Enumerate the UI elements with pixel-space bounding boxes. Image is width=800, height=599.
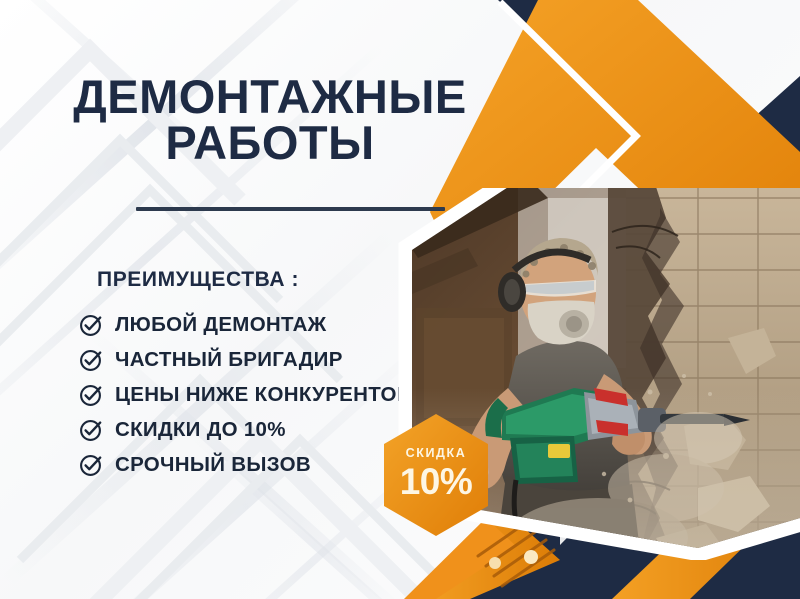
check-circle-icon: [78, 382, 104, 408]
check-circle-icon: [78, 417, 104, 443]
promo-banner: ДЕМОНТАЖНЫЕ РАБОТЫ ПРЕИМУЩЕСТВА : ЛЮБОЙ …: [0, 0, 800, 599]
advantage-item: ЧАСТНЫЙ БРИГАДИР: [78, 343, 438, 376]
page-title: ДЕМОНТАЖНЫЕ РАБОТЫ: [0, 74, 540, 166]
check-circle-icon: [78, 312, 104, 338]
advantage-label: ЧАСТНЫЙ БРИГАДИР: [115, 348, 343, 372]
advantage-label: СРОЧНЫЙ ВЫЗОВ: [115, 453, 311, 477]
badge-hexagon: [380, 412, 492, 538]
discount-badge: СКИДКА 10%: [380, 412, 492, 538]
headline-line-2: РАБОТЫ: [0, 120, 540, 166]
advantages-label: ПРЕИМУЩЕСТВА :: [97, 268, 299, 292]
advantage-item: ЦЕНЫ НИЖЕ КОНКУРЕНТОВ: [78, 378, 438, 411]
headline-line-1: ДЕМОНТАЖНЫЕ: [73, 70, 466, 123]
advantage-item: ЛЮБОЙ ДЕМОНТАЖ: [78, 308, 438, 341]
check-circle-icon: [78, 347, 104, 373]
advantage-label: СКИДКИ ДО 10%: [115, 418, 286, 442]
advantage-label: ЦЕНЫ НИЖЕ КОНКУРЕНТОВ: [115, 383, 412, 407]
check-circle-icon: [78, 452, 104, 478]
advantage-label: ЛЮБОЙ ДЕМОНТАЖ: [115, 313, 327, 337]
